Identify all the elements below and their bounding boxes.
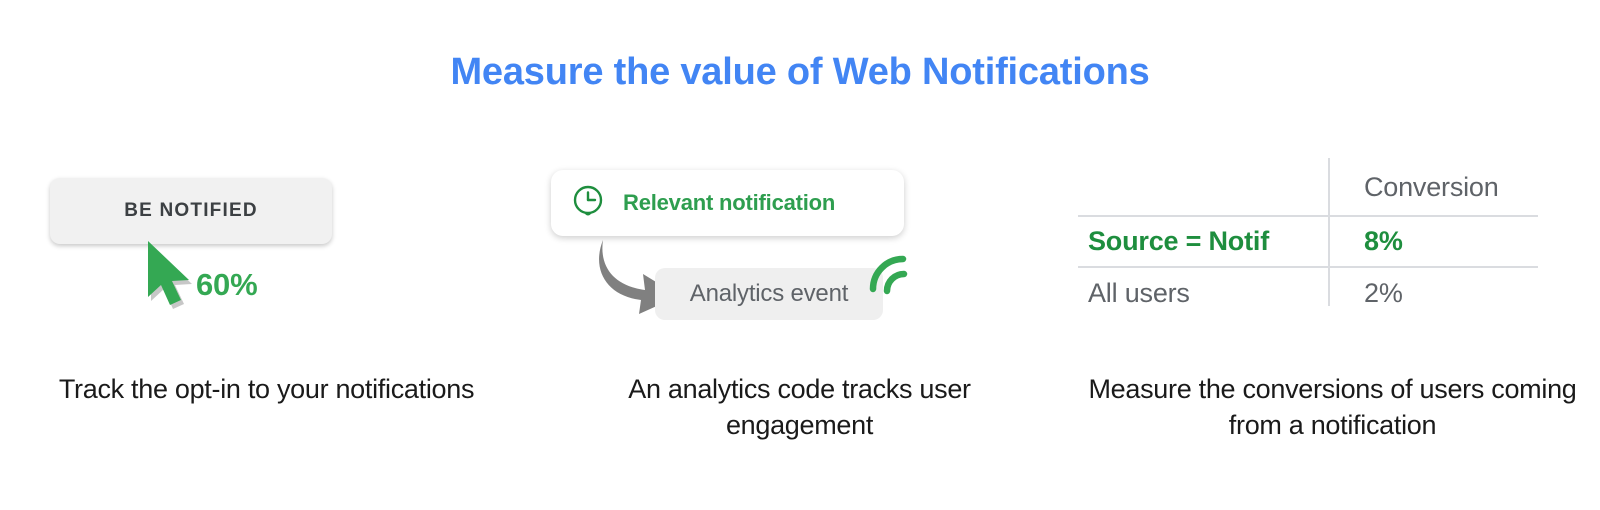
row-value-source-notif: 8% (1328, 216, 1538, 267)
engagement-visual: Relevant notification Analytics event (533, 150, 1066, 345)
page-title: Measure the value of Web Notifications (0, 52, 1600, 94)
table-column-divider (1328, 158, 1330, 306)
be-notified-button-label: BE NOTIFIED (124, 200, 258, 222)
column-opt-in: BE NOTIFIED 60% Track the opt-in to your… (0, 150, 533, 443)
conversion-caption: Measure the conversions of users coming … (1066, 371, 1599, 443)
conversion-visual: Conversion Source = Notif 8% All users 2… (1066, 150, 1599, 345)
relevant-notification-card[interactable]: Relevant notification (551, 170, 904, 236)
row-value-all-users: 2% (1328, 267, 1538, 318)
analytics-event-chip[interactable]: Analytics event (655, 268, 883, 320)
table-header-conversion: Conversion (1328, 160, 1538, 216)
column-engagement: Relevant notification Analytics event An… (533, 150, 1066, 443)
table-row: Source = Notif 8% (1078, 216, 1538, 267)
row-label-source-notif: Source = Notif (1078, 216, 1328, 267)
table-header-row: Conversion (1078, 160, 1538, 216)
be-notified-button[interactable]: BE NOTIFIED (50, 178, 332, 244)
row-label-all-users: All users (1078, 267, 1328, 318)
opt-in-caption: Track the opt-in to your notifications (0, 371, 533, 407)
conversion-table: Conversion Source = Notif 8% All users 2… (1078, 160, 1538, 318)
column-conversion: Conversion Source = Notif 8% All users 2… (1066, 150, 1599, 443)
opt-in-rate-value: 60% (196, 267, 257, 303)
engagement-caption: An analytics code tracks user engagement (533, 371, 1066, 443)
analytics-event-label: Analytics event (690, 280, 848, 308)
table-header-blank (1078, 160, 1328, 216)
signal-waves-icon (863, 245, 915, 295)
clock-pin-icon (571, 184, 605, 222)
opt-in-visual: BE NOTIFIED 60% (0, 150, 533, 345)
table-row: All users 2% (1078, 267, 1538, 318)
relevant-notification-label: Relevant notification (623, 190, 835, 216)
feature-columns: BE NOTIFIED 60% Track the opt-in to your… (0, 150, 1600, 443)
